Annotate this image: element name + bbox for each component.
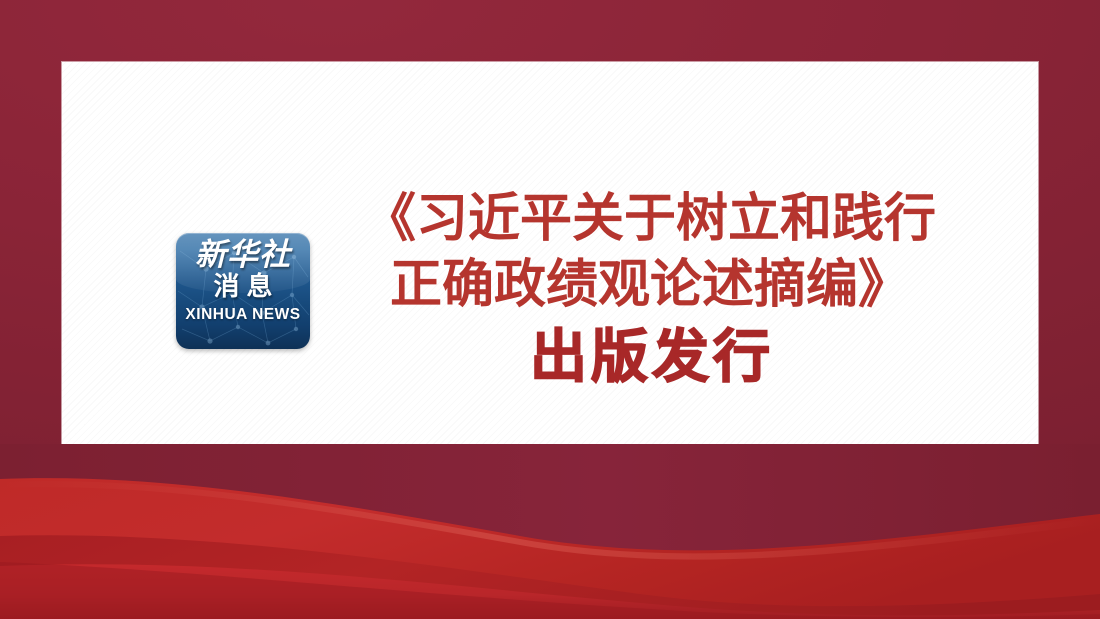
headline-title-line-1: 《习近平关于树立和践行 — [330, 186, 970, 252]
xinhua-news-logo: 新华社 消息 XINHUA NEWS — [176, 233, 310, 349]
logo-text-block: 新华社 消息 XINHUA NEWS — [176, 233, 310, 349]
bottom-wave-decoration — [0, 444, 1100, 619]
logo-english-label: XINHUA NEWS — [185, 306, 300, 324]
news-card-stage: 新华社 消息 XINHUA NEWS 《习近平关于树立和践行 正确政绩观论述摘编… — [0, 0, 1100, 619]
logo-chinese-primary: 新华社 — [195, 240, 291, 272]
headline-block: 《习近平关于树立和践行 正确政绩观论述摘编》 出版发行 — [330, 186, 970, 394]
headline-title-line-2: 正确政绩观论述摘编》 — [330, 252, 970, 318]
logo-chinese-secondary: 消息 — [206, 273, 279, 303]
headline-subtitle: 出版发行 — [330, 320, 970, 394]
